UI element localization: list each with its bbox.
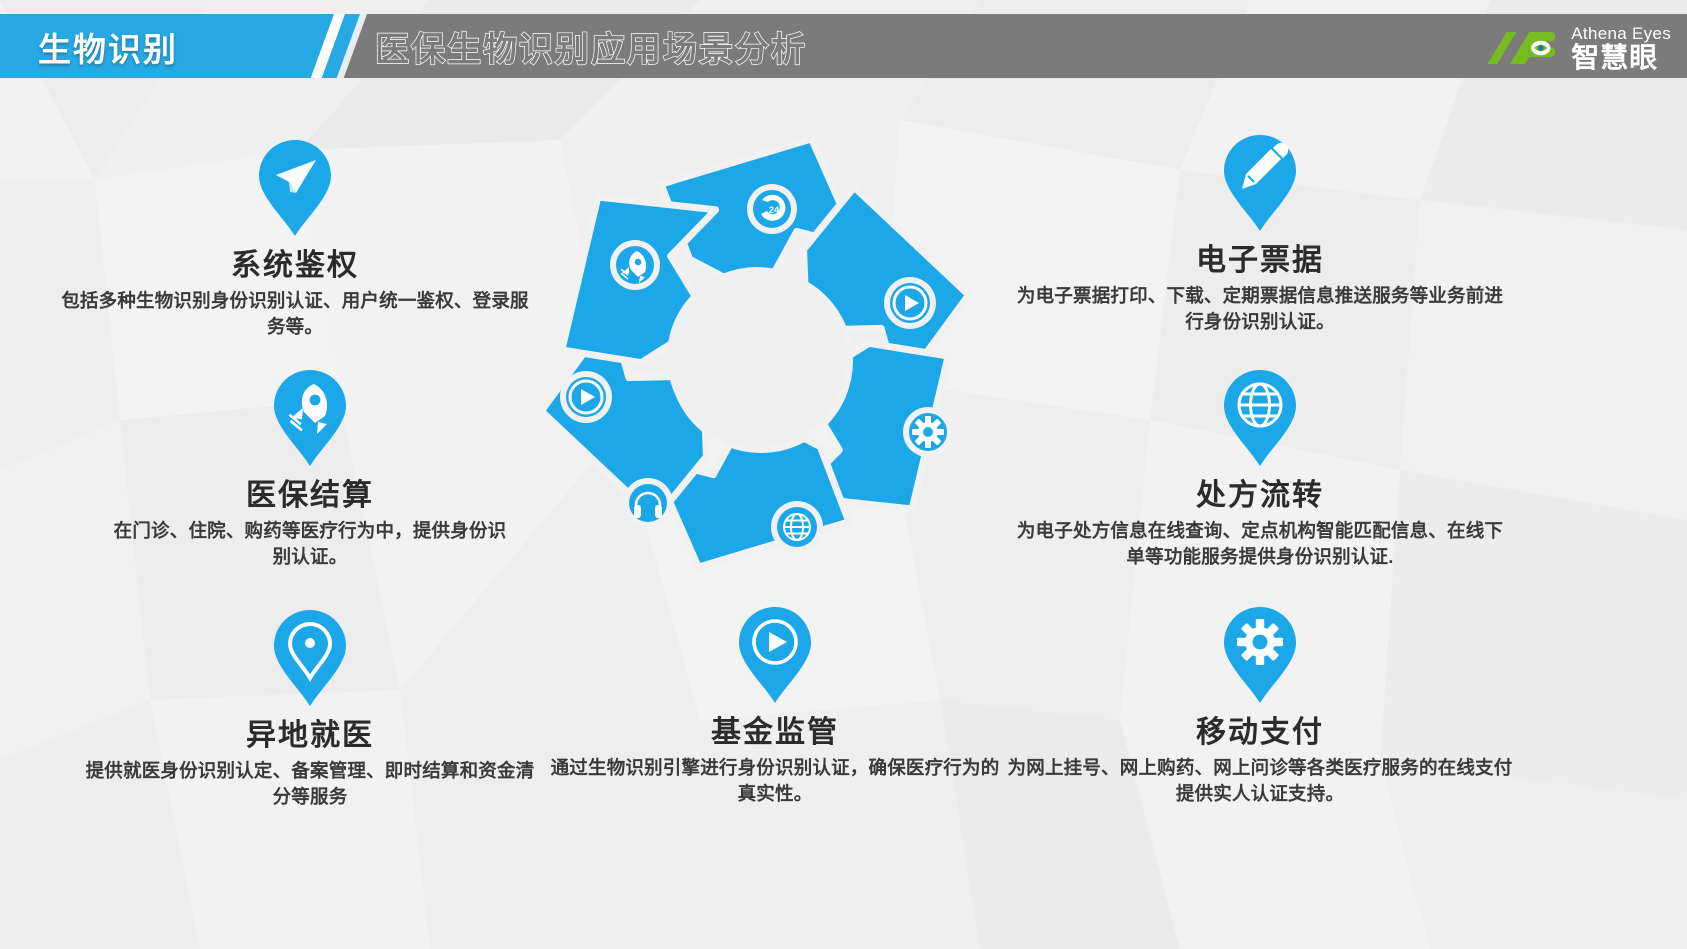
feature-card-fund-supervision: 基金监管 通过生物识别引擎进行身份识别认证，确保医疗行为的真实性。 xyxy=(545,605,1005,808)
play-icon xyxy=(884,277,936,329)
page-title: 医保生物识别应用场景分析 xyxy=(375,22,807,71)
card-description: 通过生物识别引擎进行身份识别认证，确保医疗行为的真实性。 xyxy=(545,755,1005,808)
feature-card-medical-insurance-settlement: 医保结算 在门诊、住院、购药等医疗行为中，提供身份识别认证。 xyxy=(110,368,510,571)
page-header: 生物识别 医保生物识别应用场景分析 Athena Eyes 智慧眼 xyxy=(0,14,1687,78)
headphones-icon xyxy=(623,478,673,528)
header-tag-label: 生物识别 xyxy=(38,23,178,71)
phone-24h-icon: 24 xyxy=(747,184,797,234)
card-description: 在门诊、住院、购药等医疗行为中，提供身份识别认证。 xyxy=(110,518,510,571)
hexagonal-pinwheel-diagram: 24 xyxy=(520,125,990,590)
logo-english-name: Athena Eyes xyxy=(1571,25,1671,42)
logo-chinese-name: 智慧眼 xyxy=(1571,44,1671,72)
rocket-icon xyxy=(610,240,660,290)
pencil-icon xyxy=(1221,133,1299,233)
feature-card-prescription-circulation: 处方流转 为电子处方信息在线查询、定点机构智能匹配信息、在线下单等功能服务提供身… xyxy=(1010,368,1510,571)
card-description: 为电子票据打印、下载、定期票据信息推送服务等业务前进行身份识别认证。 xyxy=(1010,283,1510,336)
feature-card-electronic-bill: 电子票据 为电子票据打印、下载、定期票据信息推送服务等业务前进行身份识别认证。 xyxy=(1010,133,1510,336)
slide-canvas: 生物识别 医保生物识别应用场景分析 Athena Eyes 智慧眼 xyxy=(0,0,1687,949)
card-description: 提供就医身份识别认定、备案管理、即时结算和资金清分等服务 xyxy=(80,758,540,811)
company-logo: Athena Eyes 智慧眼 xyxy=(1482,20,1671,76)
play-circle-icon xyxy=(736,605,814,705)
feature-card-system-authorization: 系统鉴权 包括多种生物识别身份识别认证、用户统一鉴权、登录服务等。 xyxy=(60,138,530,341)
card-title: 医保结算 xyxy=(110,470,510,514)
card-description: 包括多种生物识别身份识别认证、用户统一鉴权、登录服务等。 xyxy=(60,288,530,341)
feature-card-mobile-payment: 移动支付 为网上挂号、网上购药、网上问诊等各类医疗服务的在线支付提供实人认证支持… xyxy=(1000,605,1520,808)
paper-plane-icon xyxy=(256,138,334,238)
card-title: 异地就医 xyxy=(80,710,540,754)
globe-icon xyxy=(1221,368,1299,468)
card-description: 为网上挂号、网上购药、网上问诊等各类医疗服务的在线支付提供实人认证支持。 xyxy=(1000,755,1520,808)
card-title: 处方流转 xyxy=(1010,470,1510,514)
card-description: 为电子处方信息在线查询、定点机构智能匹配信息、在线下单等功能服务提供身份识别认证… xyxy=(1010,518,1510,571)
card-title: 电子票据 xyxy=(1010,235,1510,279)
globe-icon xyxy=(771,501,823,553)
gear-icon xyxy=(1221,605,1299,705)
card-title: 系统鉴权 xyxy=(60,240,530,284)
map-pin-icon xyxy=(271,608,349,708)
header-tag: 生物识别 xyxy=(0,14,330,78)
card-title: 移动支付 xyxy=(1000,707,1520,751)
ae-logo-icon xyxy=(1482,27,1564,69)
card-title: 基金监管 xyxy=(545,707,1005,751)
svg-text:24: 24 xyxy=(769,205,780,216)
feature-card-offsite-medical-treatment: 异地就医 提供就医身份识别认定、备案管理、即时结算和资金清分等服务 xyxy=(80,608,540,811)
play-icon xyxy=(560,371,612,423)
rocket-icon xyxy=(271,368,349,468)
gear-icon xyxy=(903,407,953,457)
